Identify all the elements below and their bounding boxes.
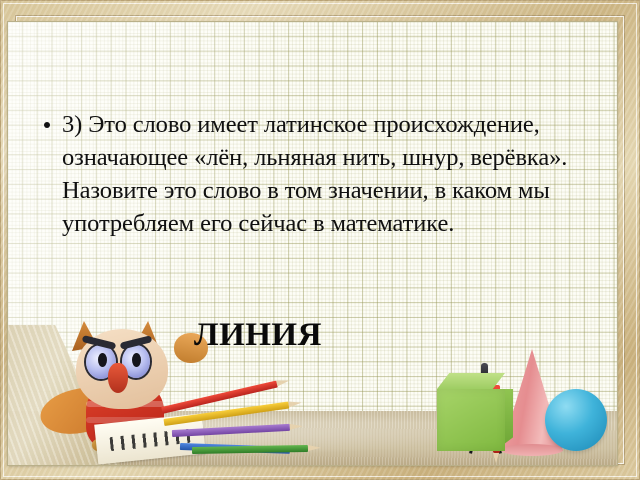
graph-paper-page: 3) Это слово имеет латинское происхожден… bbox=[8, 22, 617, 465]
pencil-purple-icon bbox=[172, 424, 290, 437]
sphere-shape bbox=[545, 389, 607, 451]
slide: 3) Это слово имеет латинское происхожден… bbox=[0, 0, 640, 480]
owl-pupil-right bbox=[132, 353, 141, 367]
cone-base bbox=[501, 444, 563, 456]
bullet-item-question: 3) Это слово имеет латинское происхожден… bbox=[34, 108, 594, 240]
content-text-block: 3) Это слово имеет латинское происхожден… bbox=[34, 108, 594, 240]
owl-beak bbox=[108, 363, 128, 393]
colored-pencils-group bbox=[158, 397, 348, 457]
geometric-solids-group bbox=[429, 347, 609, 457]
cube-front-face bbox=[437, 389, 505, 451]
cube-top-face bbox=[437, 373, 505, 389]
owl-pupil-left bbox=[98, 353, 107, 367]
bullet-list: 3) Это слово имеет латинское происхожден… bbox=[34, 108, 594, 240]
answer-word: ЛИНИЯ bbox=[194, 319, 322, 352]
